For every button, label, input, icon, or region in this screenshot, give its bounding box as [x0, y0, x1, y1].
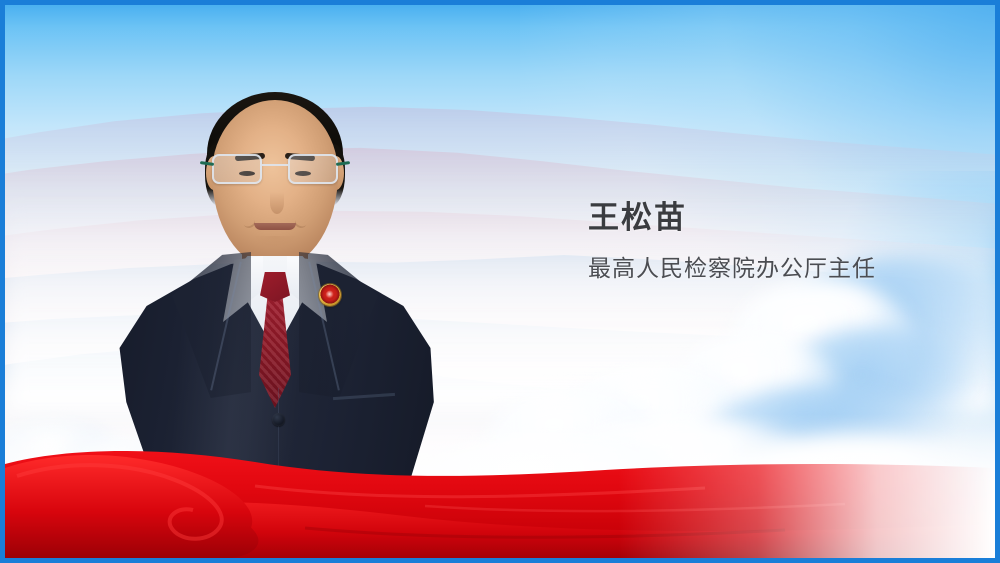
glasses-bridge	[262, 164, 288, 166]
jacket-button-lower	[272, 483, 285, 496]
nose	[270, 192, 284, 214]
portrait-banner: 王松苗 最高人民检察院办公厅主任	[0, 0, 1000, 563]
person-name: 王松苗	[588, 201, 876, 235]
jacket-button-upper	[272, 413, 285, 426]
lens-left	[212, 154, 262, 184]
procuratorate-emblem-icon	[319, 284, 341, 306]
scene: 王松苗 最高人民检察院办公厅主任	[5, 5, 995, 558]
person-title: 最高人民检察院办公厅主任	[588, 255, 876, 283]
chin-shading	[242, 236, 308, 258]
lens-right	[288, 154, 338, 184]
glasses-icon	[212, 154, 338, 188]
name-plate: 王松苗 最高人民检察院办公厅主任	[588, 201, 876, 283]
portrait-figure	[100, 28, 450, 558]
mouth	[254, 223, 296, 230]
